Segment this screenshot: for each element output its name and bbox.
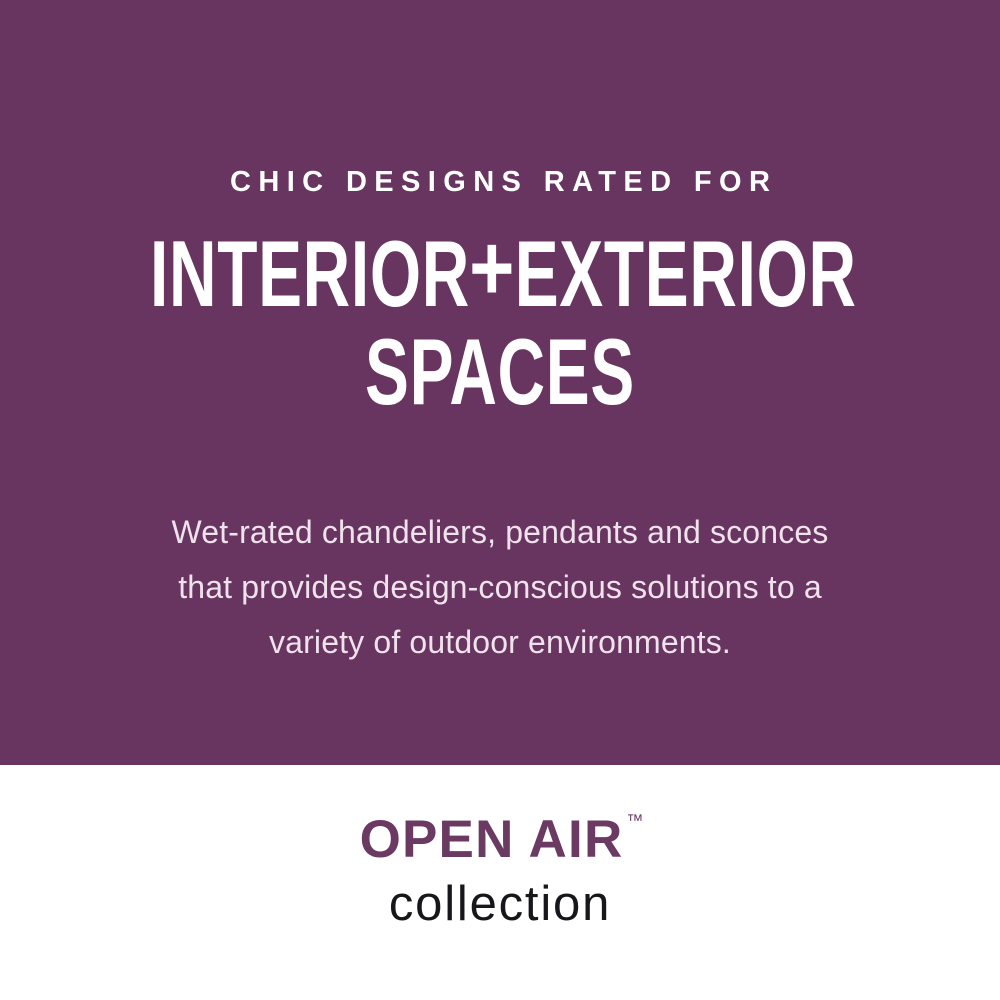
brand-name-block: OPEN AIR™: [360, 813, 641, 866]
body-line-2: that provides design-conscious solutions…: [90, 560, 910, 615]
headline-line-1: INTERIOR+EXTERIOR: [150, 225, 850, 323]
headline-plus-icon: +: [466, 219, 519, 317]
brand-name: OPEN AIR: [360, 810, 624, 869]
hero-eyebrow: CHIC DESIGNS RATED FOR: [223, 168, 778, 197]
hero-body-copy: Wet-rated chandeliers, pendants and scon…: [90, 505, 910, 670]
headline-word-exterior: EXTERIOR: [515, 221, 857, 326]
trademark-icon: ™: [626, 811, 643, 830]
body-line-3: variety of outdoor environments.: [90, 615, 910, 670]
brand-subtitle: collection: [389, 880, 611, 929]
headline-line-2: SPACES: [150, 323, 850, 421]
footer-logo-lockup: OPEN AIR™ collection: [0, 765, 1000, 1000]
body-line-1: Wet-rated chandeliers, pendants and scon…: [90, 505, 910, 560]
hero-panel: CHIC DESIGNS RATED FOR INTERIOR+EXTERIOR…: [0, 0, 1000, 765]
promo-poster: CHIC DESIGNS RATED FOR INTERIOR+EXTERIOR…: [0, 0, 1000, 1000]
hero-headline: INTERIOR+EXTERIOR SPACES: [0, 225, 1000, 421]
headline-word-interior: INTERIOR: [150, 221, 470, 326]
